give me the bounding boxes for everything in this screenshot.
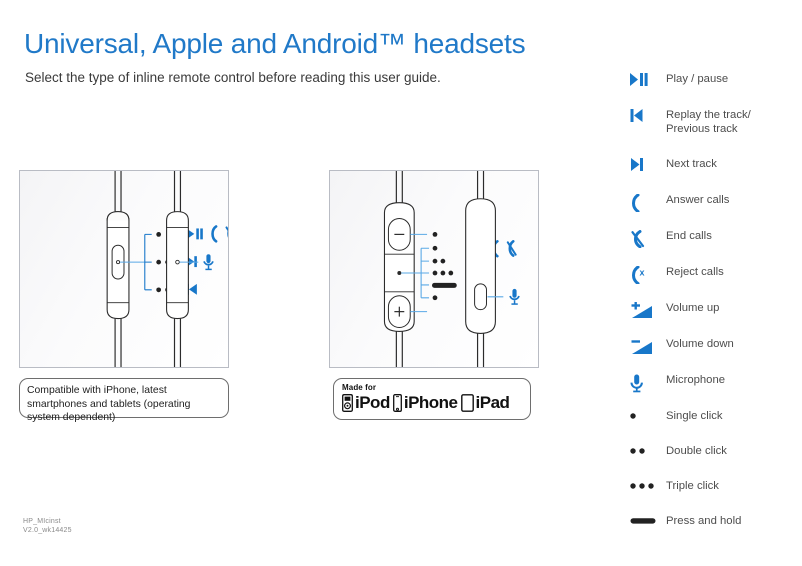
legend-item-double-click[interactable]: Double click [630,444,802,479]
made-for-ipod: iPod [342,393,390,413]
microphone-icon [510,289,519,305]
svg-text:x: x [640,268,645,278]
legend-item-press-and-hold[interactable]: Press and hold [630,514,802,544]
legend-label: End calls [666,229,712,244]
legend-item-answer-calls[interactable]: Answer calls [630,193,802,229]
legend-label: Microphone [666,373,725,388]
volume-down-icon [630,337,666,356]
iphone-label: iPhone [404,393,458,413]
footer-line-1: HP_MIcinst [23,517,72,526]
double-click-icon [630,444,666,455]
microphone-icon [204,254,213,270]
made-for-badge: Made for iPod iPhone [333,378,531,420]
legend-label: Volume up [666,301,719,316]
legend-item-next-track[interactable]: Next track [630,157,802,193]
legend-item-microphone[interactable]: Microphone [630,373,802,409]
end-calls-icon [630,229,666,248]
legend-item-triple-click[interactable]: Triple click [630,479,802,514]
apple-headset-svg: x [330,171,538,367]
legend-item-single-click[interactable]: Single click [630,409,802,444]
universal-headset-diagram[interactable] [19,170,229,368]
universal-caption-box: Compatible with iPhone, latest smartphon… [19,378,229,418]
next-track-icon [630,157,666,171]
legend-list: Play / pause Replay the track/ Previous … [630,72,802,544]
triple-click-icon [630,479,666,490]
page-root: Universal, Apple and Android™ headsets S… [0,0,802,566]
legend-item-play-pause[interactable]: Play / pause [630,72,802,108]
legend-item-reject-calls[interactable]: x Reject calls [630,265,802,301]
microphone-icon [630,373,666,393]
footer-line-2: V2.0_wk14425 [23,526,72,535]
play-pause-icon [630,72,666,86]
ipod-icon [342,394,353,412]
ipad-icon [461,394,474,412]
legend-item-volume-down[interactable]: Volume down [630,337,802,373]
legend-label: Play / pause [666,72,728,87]
legend-label: Volume down [666,337,734,352]
legend-item-previous-track[interactable]: Replay the track/ Previous track [630,108,802,157]
ipod-label: iPod [355,393,390,413]
legend-label: Reject calls [666,265,724,280]
press-and-hold-icon [630,514,666,525]
footer-doc-id: HP_MIcinst V2.0_wk14425 [23,517,72,535]
single-click-icon [630,409,666,420]
made-for-label: Made for [342,383,522,392]
legend-label: Double click [666,444,727,459]
legend-label: Press and hold [666,514,741,529]
legend-label: Triple click [666,479,719,494]
previous-track-icon [630,108,666,122]
made-for-ipad: iPad [461,393,510,413]
iphone-icon [393,394,402,412]
volume-up-icon [630,301,666,320]
legend-label: Next track [666,157,717,172]
reject-calls-icon: x [630,265,666,284]
legend-label: Replay the track/ Previous track [666,108,751,136]
universal-headset-svg [20,171,228,367]
legend-label: Answer calls [666,193,729,208]
answer-calls-icon [630,193,666,212]
universal-caption-text: Compatible with iPhone, latest smartphon… [27,384,221,425]
ipad-label: iPad [476,393,510,413]
page-subtitle: Select the type of inline remote control… [25,70,441,85]
page-title: Universal, Apple and Android™ headsets [24,28,525,60]
legend-label: Single click [666,409,723,424]
made-for-iphone: iPhone [393,393,458,413]
apple-headset-diagram[interactable]: x [329,170,539,368]
legend-item-end-calls[interactable]: End calls [630,229,802,265]
legend-item-volume-up[interactable]: Volume up [630,301,802,337]
